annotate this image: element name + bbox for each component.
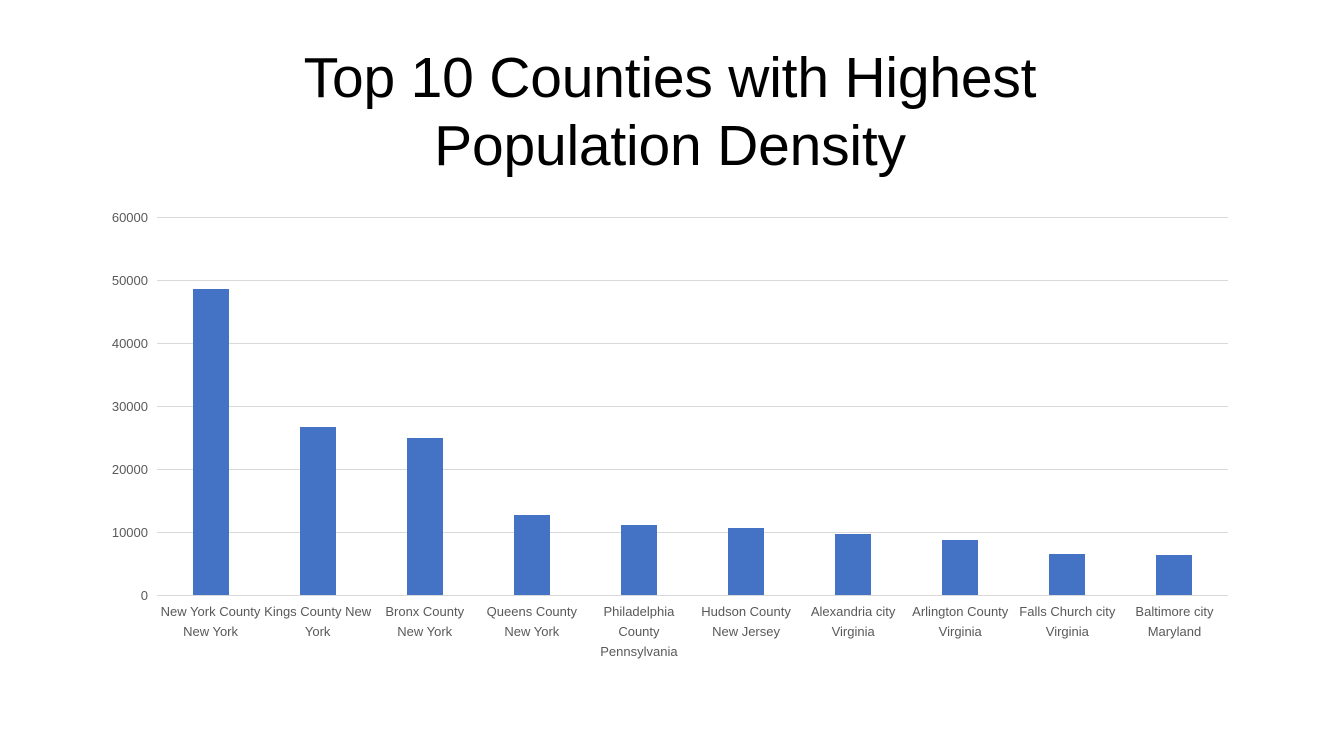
bar[interactable] — [514, 515, 550, 595]
bar-slot — [1014, 217, 1121, 595]
bar[interactable] — [728, 528, 764, 595]
x-axis-tick-label: Bronx County New York — [371, 602, 478, 642]
y-axis-tick-label: 0 — [58, 589, 148, 602]
x-axis-tick-label: New York County New York — [157, 602, 264, 642]
bar-slot — [157, 217, 264, 595]
bar-slot — [800, 217, 907, 595]
x-axis-tick-label: Baltimore city Maryland — [1121, 602, 1228, 642]
bar[interactable] — [1049, 554, 1085, 595]
bar-slot — [907, 217, 1014, 595]
bar-slot — [371, 217, 478, 595]
x-axis-tick-label: Kings County New York — [264, 602, 371, 642]
x-axis-tick-label: Arlington County Virginia — [907, 602, 1014, 642]
bar-slot — [693, 217, 800, 595]
bar-slot — [264, 217, 371, 595]
axis-line-zero — [157, 595, 1228, 596]
y-axis-tick-label: 20000 — [58, 463, 148, 476]
bar[interactable] — [1156, 555, 1192, 595]
y-axis-tick-label: 10000 — [58, 526, 148, 539]
x-axis-tick-label: Hudson County New Jersey — [693, 602, 800, 642]
bar[interactable] — [942, 540, 978, 595]
x-axis-tick-label: Philadelphia County Pennsylvania — [585, 602, 692, 662]
bar[interactable] — [300, 427, 336, 595]
bar[interactable] — [621, 525, 657, 595]
bar-slot — [1121, 217, 1228, 595]
y-axis-tick-label: 30000 — [58, 400, 148, 413]
bar[interactable] — [193, 289, 229, 595]
bar[interactable] — [407, 438, 443, 595]
x-axis-tick-label: Alexandria city Virginia — [800, 602, 907, 642]
x-axis-tick-label: Queens County New York — [478, 602, 585, 642]
x-axis-tick-label: Falls Church city Virginia — [1014, 602, 1121, 642]
bar-slot — [585, 217, 692, 595]
plot-area — [157, 217, 1228, 595]
chart-title: Top 10 Counties with Highest Population … — [170, 44, 1170, 180]
y-axis-tick-label: 60000 — [58, 211, 148, 224]
slide-canvas: Top 10 Counties with Highest Population … — [0, 0, 1333, 750]
bar-slot — [478, 217, 585, 595]
bar[interactable] — [835, 534, 871, 595]
y-axis-tick-label: 50000 — [58, 274, 148, 287]
y-axis-tick-label: 40000 — [58, 337, 148, 350]
